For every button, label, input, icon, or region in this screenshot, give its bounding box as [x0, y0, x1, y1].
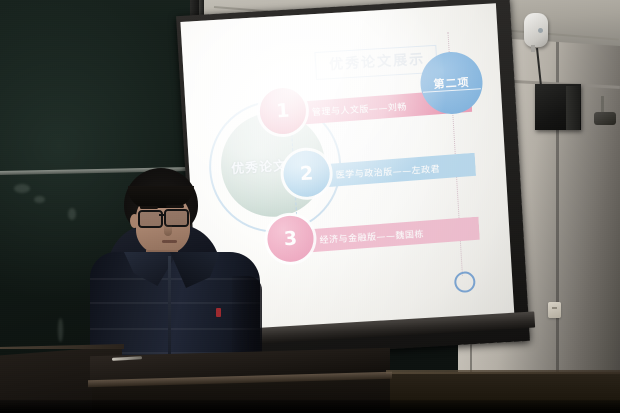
chalk-smudge	[34, 196, 45, 203]
wall-speaker-side	[566, 86, 580, 130]
speaker-mount-stem	[531, 45, 535, 52]
glasses-bridge	[159, 214, 165, 216]
slide-item-bar-3: 经济与金融版——魏国栋	[285, 217, 480, 254]
slide-item-text-1: 管理与人文版——刘畅	[312, 99, 408, 118]
camera-mount-arm	[601, 96, 604, 113]
eyebrow-right	[166, 205, 184, 208]
side-desk-edge	[386, 370, 620, 374]
security-camera-icon	[594, 112, 616, 125]
slide-item-text-3: 经济与金融版——魏国栋	[319, 226, 424, 245]
chalk-smudge	[14, 184, 30, 193]
power-outlet-icon	[548, 302, 561, 318]
chalk-smudge	[58, 318, 63, 342]
jacket-zipper	[168, 256, 171, 370]
foreground-shadow	[0, 400, 620, 413]
ceiling-speaker-icon	[524, 13, 548, 47]
eyebrow-left	[140, 206, 158, 209]
nose	[164, 224, 172, 236]
power-outlet-slot	[552, 307, 557, 309]
wall-corner	[556, 0, 559, 413]
decorative-end-circle	[454, 271, 476, 293]
slide-item-text-2: 医学与政治版——左政君	[335, 161, 440, 180]
seated-presenter	[84, 168, 274, 368]
glasses-lens-left	[138, 210, 163, 228]
mouth	[162, 240, 177, 243]
photo-scene: 优秀论文展示 优秀论文展示 管理与人文版——刘畅 医学与政治版——左政君 经济与…	[0, 0, 620, 413]
speaker-indicator-dot	[538, 28, 543, 33]
chalk-smudge	[68, 208, 76, 220]
jacket-brand-tag	[216, 308, 221, 317]
